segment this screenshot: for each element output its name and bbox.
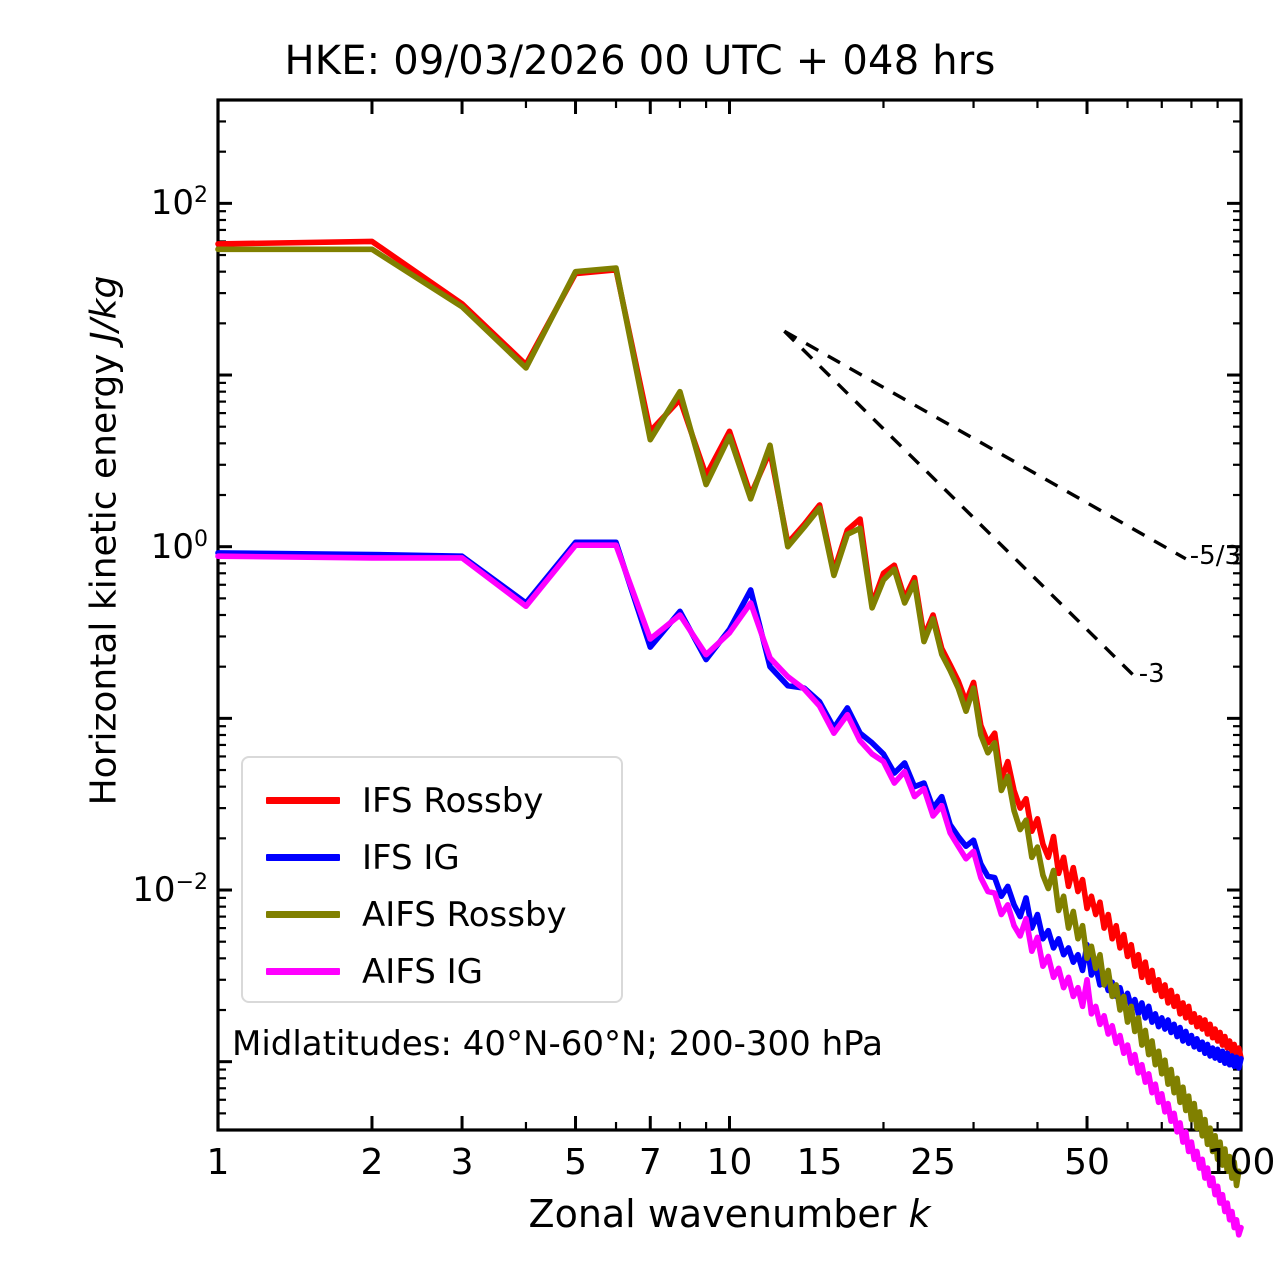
legend-color-swatch xyxy=(266,854,340,861)
legend-label: IFS IG xyxy=(362,841,460,875)
reference-slope-line xyxy=(784,331,1134,676)
x-tick-label: 15 xyxy=(797,1142,843,1183)
legend-label: AIFS Rossby xyxy=(362,898,567,932)
x-tick-label: 25 xyxy=(910,1142,956,1183)
x-tick-label: 5 xyxy=(564,1142,587,1183)
y-tick-label: 102 xyxy=(151,183,208,223)
x-tick-label: 2 xyxy=(361,1142,384,1183)
x-tick-label: 3 xyxy=(451,1142,474,1183)
legend-label: AIFS IG xyxy=(362,955,483,989)
legend-item[interactable]: IFS IG xyxy=(243,829,621,886)
reference-slope-label: -5/3 xyxy=(1190,541,1241,571)
x-tick-label: 50 xyxy=(1064,1142,1110,1183)
region-annotation: Midlatitudes: 40°N-60°N; 200-300 hPa xyxy=(232,1024,883,1064)
legend-item[interactable]: AIFS Rossby xyxy=(243,886,621,943)
legend[interactable]: IFS RossbyIFS IGAIFS RossbyAIFS IG xyxy=(241,756,623,1003)
legend-color-swatch xyxy=(266,911,340,918)
x-tick-label: 1 xyxy=(207,1142,230,1183)
x-tick-label: 7 xyxy=(639,1142,662,1183)
y-tick-label: 100 xyxy=(151,527,208,567)
legend-color-swatch xyxy=(266,968,340,975)
legend-label: IFS Rossby xyxy=(362,784,543,818)
legend-color-swatch xyxy=(266,797,340,804)
legend-item[interactable]: AIFS IG xyxy=(243,943,621,1000)
reference-slope-label: -3 xyxy=(1139,659,1165,689)
figure: HKE: 09/03/2026 00 UTC + 048 hrs Horizon… xyxy=(0,0,1280,1288)
x-tick-label: 10 xyxy=(707,1142,753,1183)
y-tick-label: 10−2 xyxy=(132,870,208,910)
legend-item[interactable]: IFS Rossby xyxy=(243,772,621,829)
x-axis-label: Zonal wavenumber k xyxy=(218,1192,1241,1236)
reference-slope-line xyxy=(784,331,1185,559)
x-tick-label: 100 xyxy=(1207,1142,1276,1183)
